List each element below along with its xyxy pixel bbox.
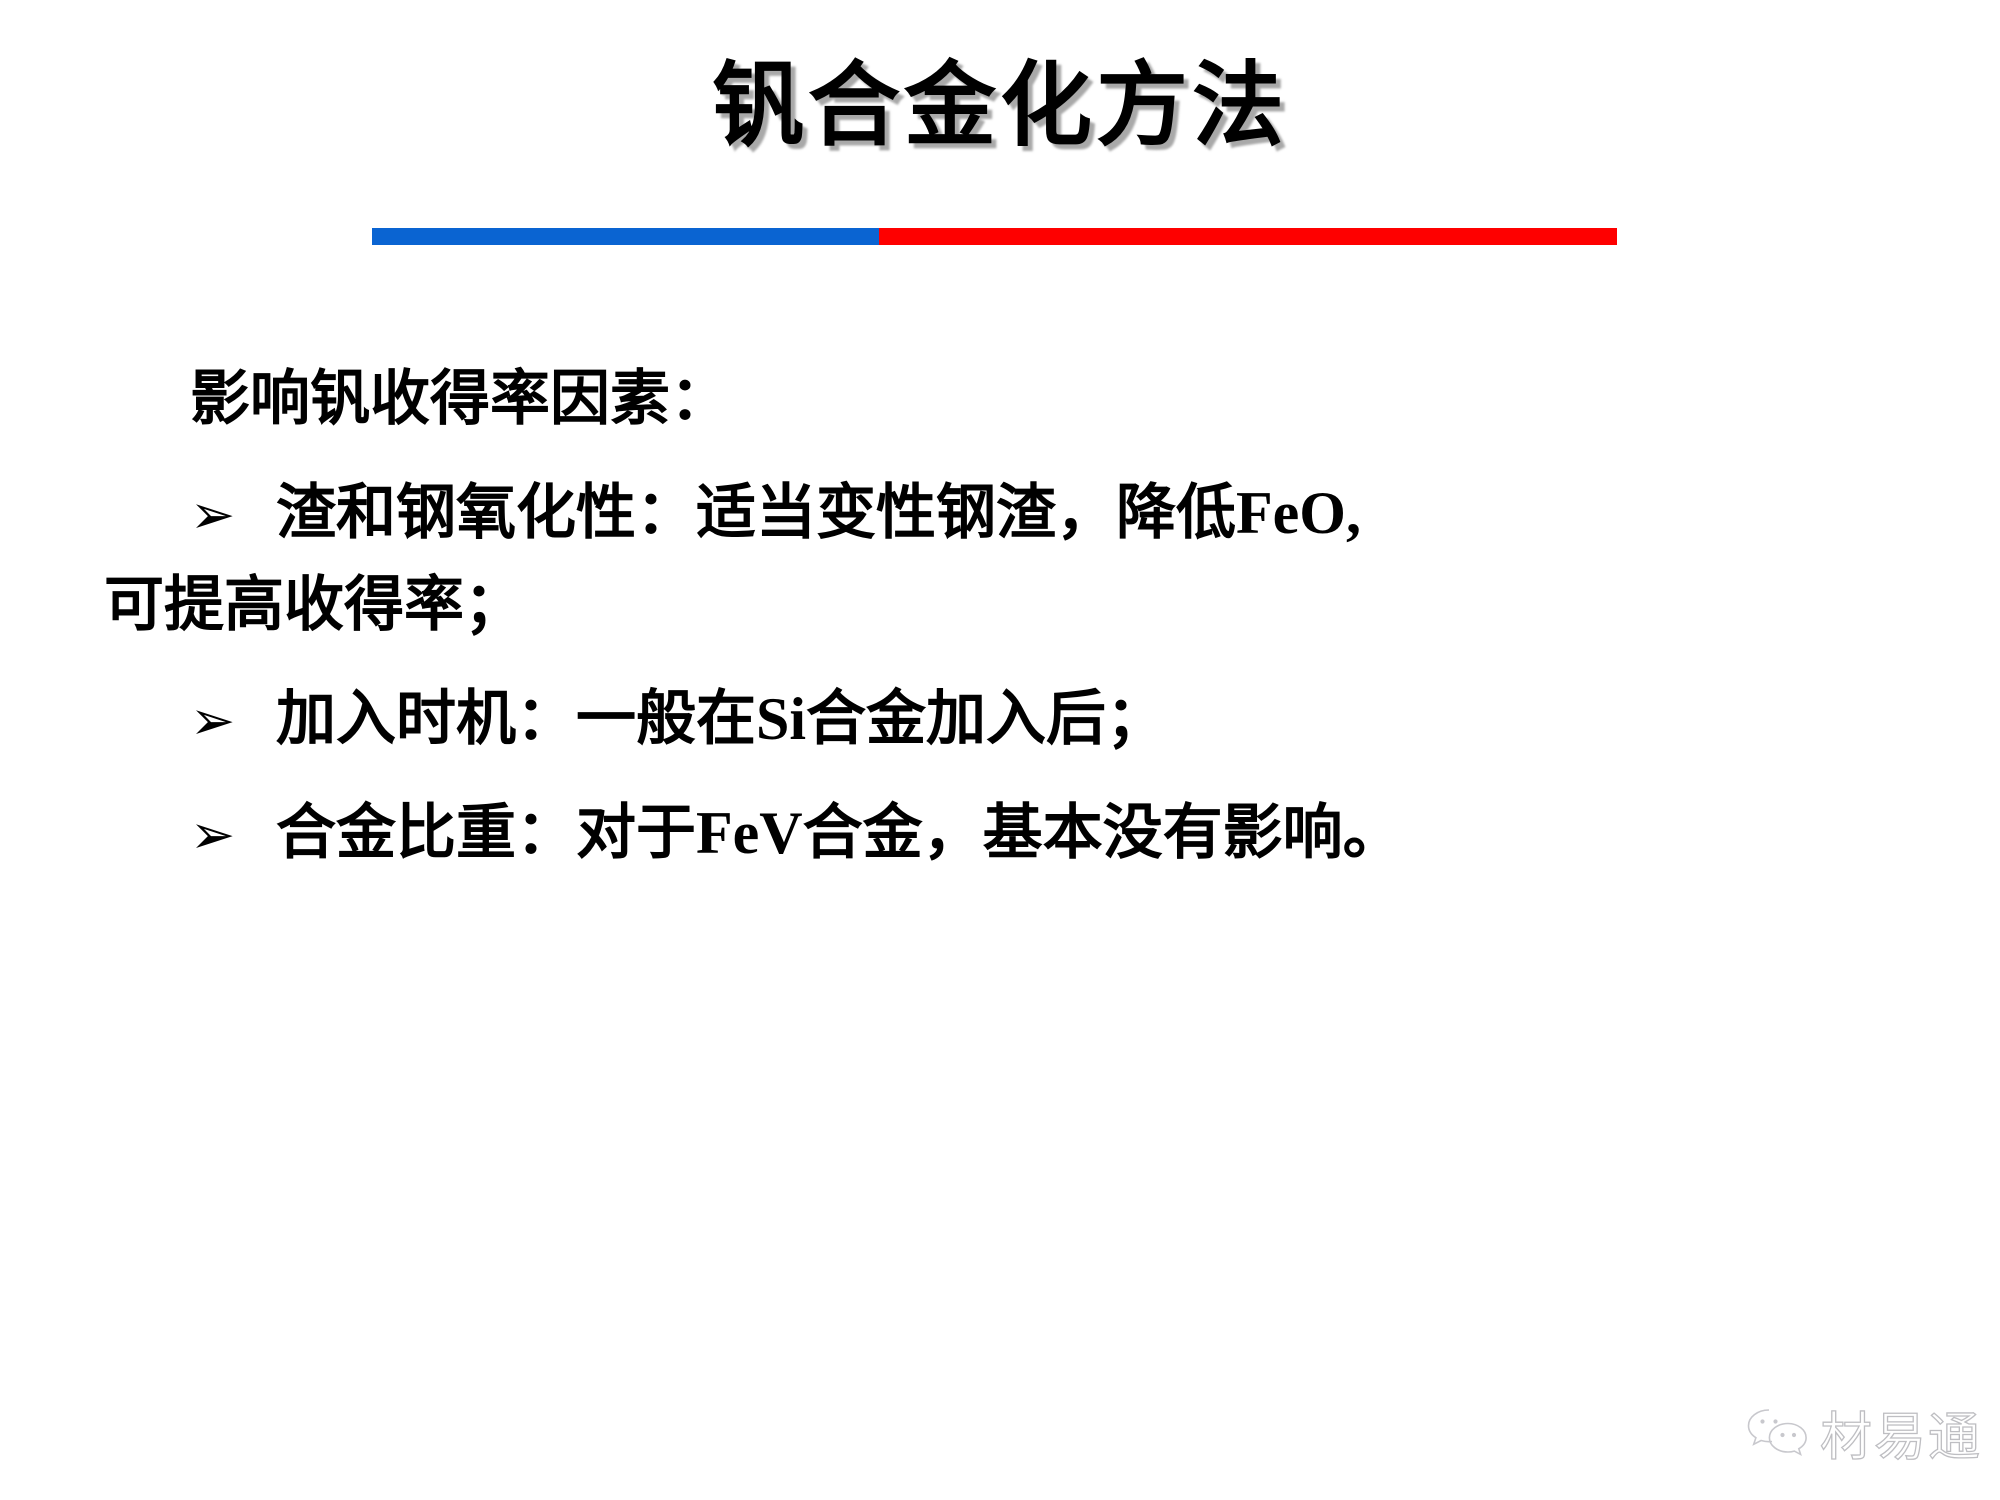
body-content: 影响钒收得率因素： ➢渣和钢氧化性：适当变性钢渣，降低FeO, 可提高收得率； … (190, 368, 1890, 908)
page-title: 钒合金化方法 (0, 58, 2000, 155)
bullet-1-continuation: 可提高收得率； (104, 566, 1890, 644)
slide-canvas: 钒合金化方法 影响钒收得率因素： ➢渣和钢氧化性：适当变性钢渣，降低FeO, 可… (0, 0, 2000, 1500)
title-divider (372, 228, 1617, 245)
divider-blue-segment (372, 228, 879, 245)
arrowhead-bullet-icon: ➢ (190, 480, 276, 550)
arrowhead-bullet-icon: ➢ (190, 686, 276, 756)
wechat-icon (1744, 1406, 1810, 1460)
bullet-2-text: 加入时机：一般在Si合金加入后； (276, 686, 1166, 752)
arrowhead-bullet-icon: ➢ (190, 800, 276, 870)
watermark-text: 材易通 (1820, 1395, 1982, 1470)
slide-title-text: 钒合金化方法 (712, 58, 1288, 155)
bullet-item-1: ➢渣和钢氧化性：适当变性钢渣，降低FeO, 可提高收得率； (190, 474, 1890, 644)
divider-red-segment (879, 228, 1617, 245)
bullet-1-text: 渣和钢氧化性：适当变性钢渣，降低FeO, (276, 480, 1361, 546)
body-lead-line: 影响钒收得率因素： (190, 368, 1890, 432)
bullet-3-text: 合金比重：对于FeV合金，基本没有影响。 (276, 800, 1403, 866)
bullet-item-2: ➢加入时机：一般在Si合金加入后； (190, 680, 1890, 758)
bullet-item-3: ➢合金比重：对于FeV合金，基本没有影响。 (190, 794, 1890, 872)
watermark: 材易通 (1744, 1395, 1982, 1470)
